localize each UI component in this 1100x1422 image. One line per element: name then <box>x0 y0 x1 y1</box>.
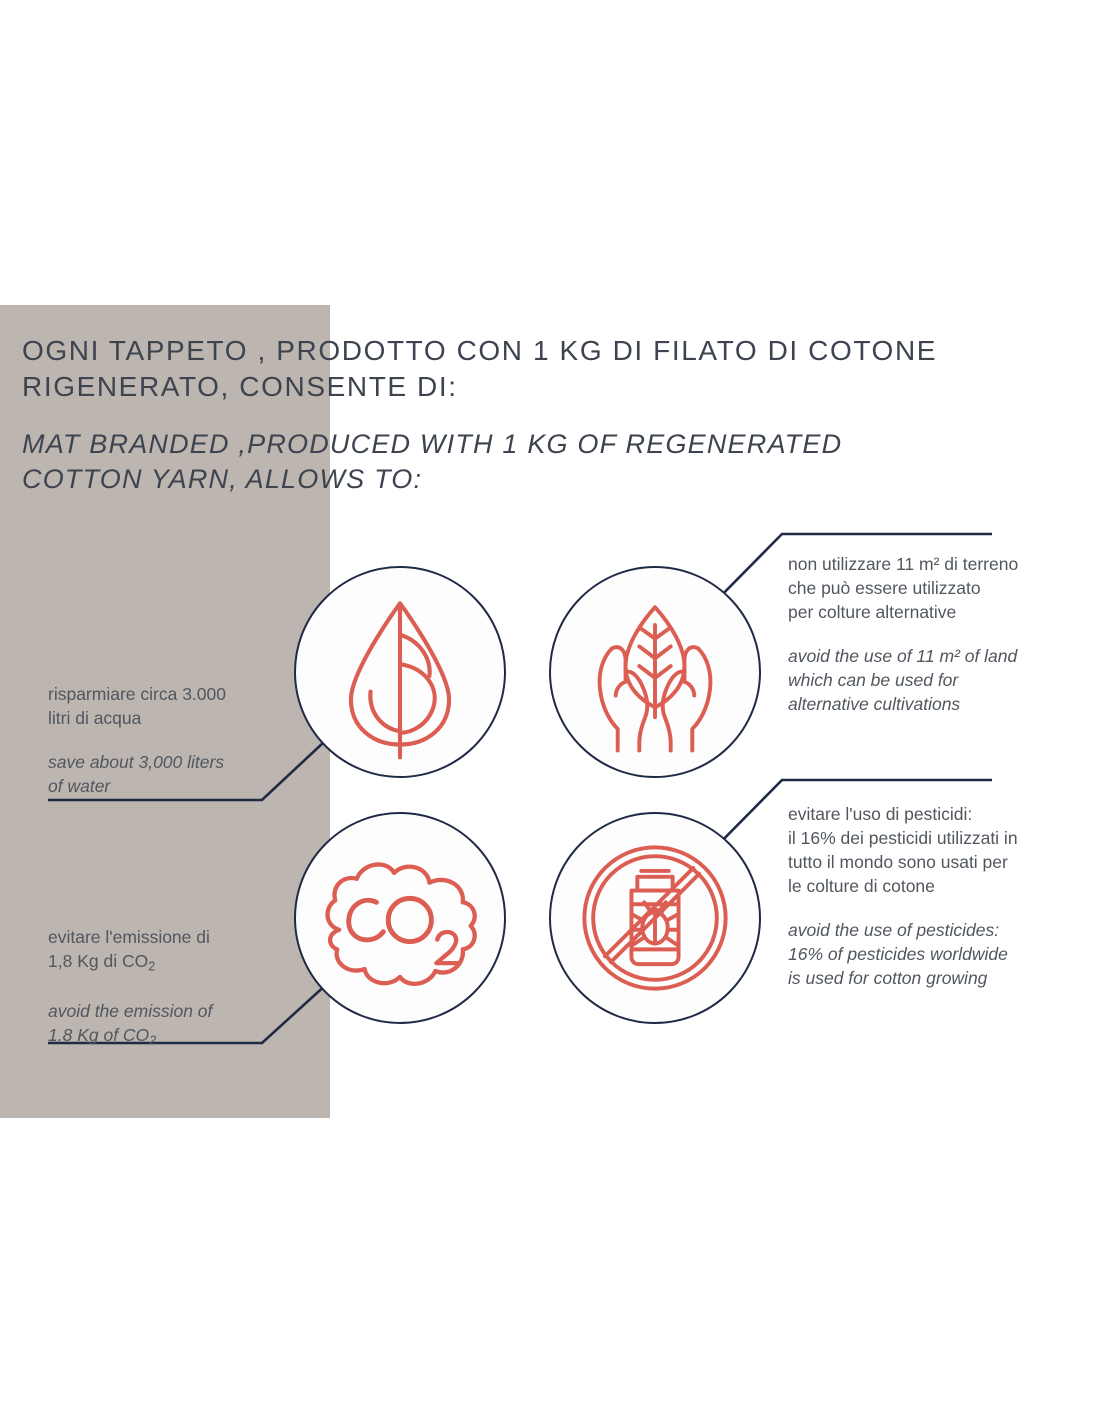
callout-land-italian: non utilizzare 11 m² di terreno che può … <box>788 552 1058 624</box>
callout-co2-italian-line2: 1,8 Kg di CO <box>48 951 148 971</box>
callout-co2-italian: evitare l'emissione di1,8 Kg di CO2 <box>48 925 298 979</box>
page-title-english: MAT BRANDED ,PRODUCED WITH 1 KG OF REGEN… <box>22 427 982 497</box>
callout-land-english: avoid the use of 11 m² of land which can… <box>788 644 1058 716</box>
leaf-waterdrop-icon <box>296 568 504 776</box>
callout-co2-italian-line1: evitare l'emissione di <box>48 927 210 947</box>
callout-co2-italian-subscript: 2 <box>148 960 155 974</box>
callout-water-english: save about 3,000 liters of water <box>48 750 298 798</box>
page-title-italian: OGNI TAPPETO , PRODOTTO CON 1 KG DI FILA… <box>22 333 982 405</box>
callout-pesticides: evitare l'uso di pesticidi: il 16% dei p… <box>788 802 1050 990</box>
callout-water-italian: risparmiare circa 3.000 litri di acqua <box>48 682 298 730</box>
callout-co2-english-subscript: 2 <box>149 1033 156 1047</box>
callout-pesticides-italian: evitare l'uso di pesticidi: il 16% dei p… <box>788 802 1050 898</box>
infographic-page: OGNI TAPPETO , PRODOTTO CON 1 KG DI FILA… <box>0 0 1100 1422</box>
icon-circle-water <box>294 566 506 778</box>
callout-co2-english: avoid the emission of1.8 Kg of CO2 <box>48 999 298 1053</box>
callout-co2: evitare l'emissione di1,8 Kg di CO2 avoi… <box>48 925 298 1052</box>
co2-cloud-icon <box>296 814 504 1022</box>
icon-circle-pesticides <box>549 812 761 1024</box>
hands-holding-leaf-icon <box>551 568 759 776</box>
callout-water: risparmiare circa 3.000 litri di acqua s… <box>48 682 298 798</box>
no-pesticide-icon <box>551 814 759 1022</box>
heading-block: OGNI TAPPETO , PRODOTTO CON 1 KG DI FILA… <box>22 333 982 497</box>
icon-circle-land <box>549 566 761 778</box>
icon-circle-co2 <box>294 812 506 1024</box>
callout-pesticides-english: avoid the use of pesticides: 16% of pest… <box>788 918 1050 990</box>
callout-land: non utilizzare 11 m² di terreno che può … <box>788 552 1058 716</box>
callout-co2-english-line2: 1.8 Kg of CO <box>48 1025 149 1045</box>
callout-co2-english-line1: avoid the emission of <box>48 1001 212 1021</box>
